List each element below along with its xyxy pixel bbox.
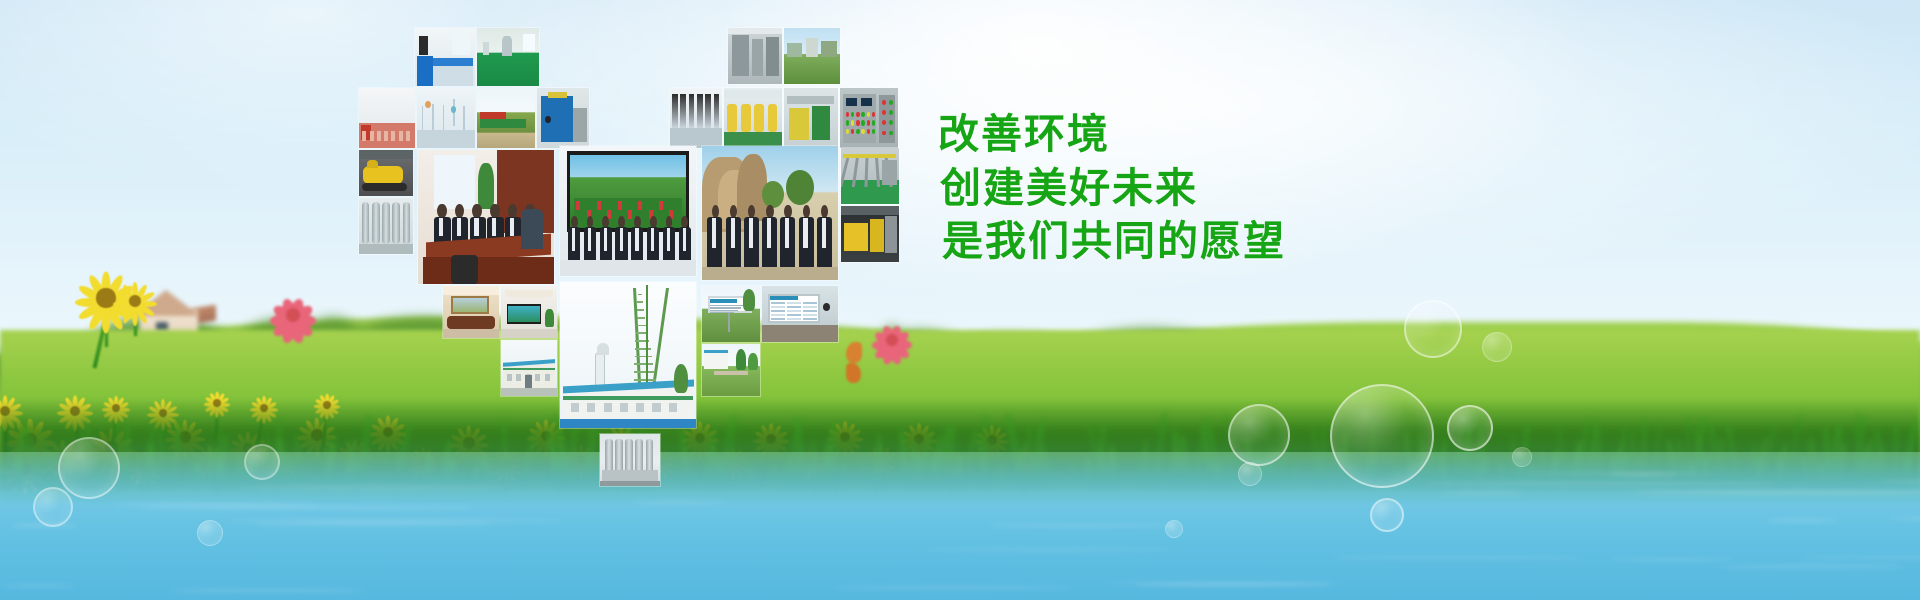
collage-photo-outdoor-plant xyxy=(359,88,415,148)
headline-line-2: 创建美好未来 xyxy=(938,162,1498,216)
collage-photo-outdoor-plant xyxy=(702,344,760,396)
collage-photo-blue-machine xyxy=(417,88,475,148)
collage-photo-equipment-yard xyxy=(728,28,782,84)
collage-photo-blue-machine xyxy=(600,434,660,486)
collage-photo-pipe-gallery xyxy=(443,286,499,338)
collage-photo-display-screen-room xyxy=(359,150,413,196)
photo-collage xyxy=(0,0,1920,600)
collage-photo-tanks-room xyxy=(784,88,838,148)
collage-photo-equipment-yard xyxy=(702,286,760,342)
collage-photo-lab-interior xyxy=(501,340,557,396)
collage-photo-reception-hall xyxy=(840,88,898,148)
collage-photo-silo-plant xyxy=(501,286,557,338)
headline-slogan: 改善环境 创建美好未来 是我们共同的愿望 xyxy=(938,108,1498,269)
headline-line-3: 是我们共同的愿望 xyxy=(938,215,1498,269)
collage-photo-production-workshop xyxy=(477,28,539,86)
collage-photo-team-photo-screen xyxy=(670,88,722,148)
company-banner: 改善环境 创建美好未来 是我们共同的愿望 xyxy=(0,0,1920,600)
collage-photo-production-workshop xyxy=(560,282,696,428)
collage-photo-team-photo-rocks xyxy=(724,88,782,148)
collage-photo-yellow-tanks xyxy=(841,206,899,262)
collage-photo-signboard-wall xyxy=(560,146,696,276)
collage-photo-meeting-room xyxy=(537,88,589,148)
collage-photo-tower-plant xyxy=(418,150,554,284)
headline-line-1: 改善环境 xyxy=(938,108,1498,162)
collage-photo-glassware-rack xyxy=(784,28,840,84)
collage-photo-glassware-rack xyxy=(762,286,838,342)
collage-photo-lab-interior xyxy=(415,28,475,86)
collage-photo-factory-building xyxy=(359,198,413,254)
collage-photo-yellow-excavator xyxy=(477,88,535,148)
collage-photo-entrance-garden xyxy=(702,146,838,280)
collage-photo-control-panel xyxy=(841,148,899,204)
